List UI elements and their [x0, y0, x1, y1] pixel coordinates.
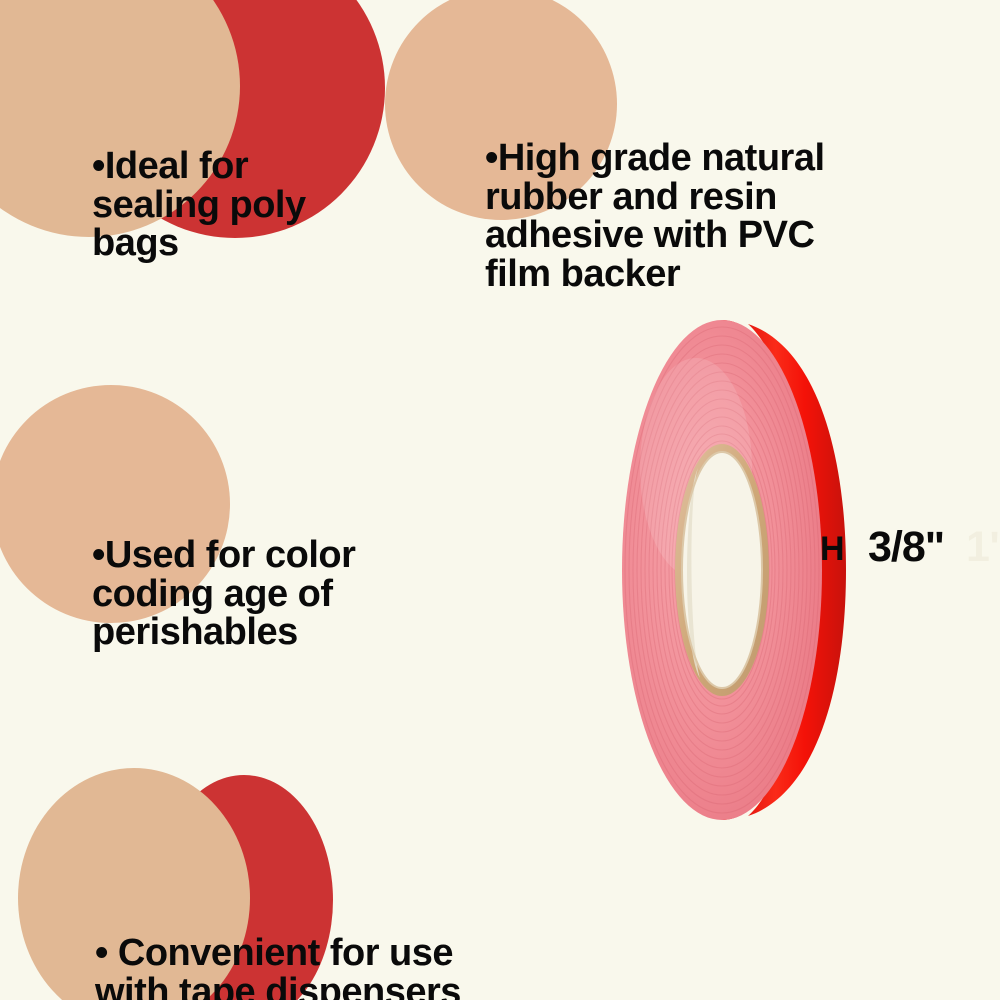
dimension-label-width: 3/8" — [868, 523, 944, 572]
bullet-text-4: Convenient for use with tape dispensers — [95, 932, 461, 1000]
bullet-text-3: Used for color coding age of perishables — [92, 534, 355, 654]
product-infographic: •Ideal for sealing poly bags •High grade… — [0, 0, 1000, 1000]
bullet-marker-1: • — [92, 145, 105, 187]
bullet-marker-2: • — [485, 137, 498, 179]
dimension-label-height: H — [820, 530, 844, 569]
bullet-marker-4: • — [95, 932, 108, 974]
bullet-text-2: High grade natural rubber and resin adhe… — [485, 137, 825, 295]
bullet-marker-3: • — [92, 534, 105, 576]
bullet-tape-dispensers: • Convenient for use with tape dispenser… — [95, 895, 615, 1000]
bullet-color-coding: •Used for color coding age of perishable… — [92, 497, 452, 652]
bullet-sealing-poly-bags: •Ideal for sealing poly bags — [92, 108, 392, 263]
bullet-rubber-resin-adhesive: •High grade natural rubber and resin adh… — [485, 100, 955, 294]
bullet-text-1: Ideal for sealing poly bags — [92, 145, 306, 265]
dimension-label-secondary: 1" — [966, 523, 1000, 572]
tape-roll-image — [618, 318, 850, 822]
